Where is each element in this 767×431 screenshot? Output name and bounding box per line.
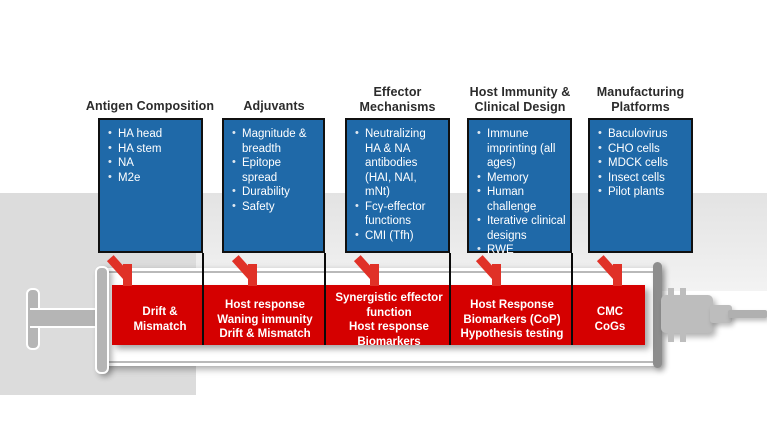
- band-cell-line: Host response: [329, 320, 449, 335]
- list-item: Durability: [232, 185, 319, 200]
- divider-line-2: [324, 253, 326, 345]
- list-item: NA: [108, 156, 197, 171]
- band-cell-antigen-composition: Drift & Mismatch: [118, 305, 202, 334]
- syringe-hub-rib-icon: [680, 288, 686, 298]
- syringe-hub-body-icon: [661, 295, 713, 333]
- connector-arrow-manufacturing-platforms: [613, 256, 643, 286]
- band-cell-line: Host Response: [452, 298, 572, 313]
- column-box-manufacturing-platforms[interactable]: Baculovirus CHO cells MDCK cells Insect …: [588, 118, 693, 253]
- band-cell-host-immunity-clinical-design: Host Response Biomarkers (CoP) Hypothesi…: [452, 298, 572, 342]
- band-cell-line: Waning immunity: [206, 313, 324, 328]
- list-item: Memory: [477, 171, 566, 186]
- list-item: Baculovirus: [598, 127, 687, 142]
- list-item: Pilot plants: [598, 185, 687, 200]
- syringe-plunger-flange-icon: [95, 266, 109, 374]
- column-list-adjuvants: Magnitude & breadth Epitope spread Durab…: [224, 120, 323, 214]
- column-heading-manufacturing-platforms: Manufacturing Platforms: [588, 85, 693, 115]
- syringe-plunger-rod-icon: [30, 308, 102, 328]
- list-item: M2e: [108, 171, 197, 186]
- list-item: Neutralizing HA & NA antibodies (HAI, NA…: [355, 127, 444, 200]
- divider-line-1: [202, 253, 204, 345]
- band-cell-manufacturing-platforms: CMC CoGs: [578, 305, 642, 334]
- column-heading-antigen-composition: Antigen Composition: [80, 99, 220, 114]
- list-item: HA head: [108, 127, 197, 142]
- syringe-hub-rib-icon: [668, 332, 674, 342]
- column-list-manufacturing-platforms: Baculovirus CHO cells MDCK cells Insect …: [590, 120, 691, 200]
- diagram-canvas: Antigen Composition HA head HA stem NA M…: [0, 0, 767, 431]
- list-item: Human challenge: [477, 185, 566, 214]
- divider-line-3: [449, 253, 451, 345]
- band-cell-line: function: [329, 306, 449, 321]
- column-list-host-immunity-clinical-design: Immune imprinting (all ages) Memory Huma…: [469, 120, 570, 258]
- column-heading-host-immunity-clinical-design: Host Immunity & Clinical Design: [460, 85, 580, 115]
- list-item: Iterative clinical designs: [477, 214, 566, 243]
- column-box-effector-mechanisms[interactable]: Neutralizing HA & NA antibodies (HAI, NA…: [345, 118, 450, 253]
- band-cell-line: CMC: [578, 305, 642, 320]
- column-heading-adjuvants: Adjuvants: [222, 99, 326, 114]
- band-cell-line: Drift & Mismatch: [206, 327, 324, 342]
- list-item: Magnitude & breadth: [232, 127, 319, 156]
- list-item: Immune imprinting (all ages): [477, 127, 566, 171]
- connector-arrow-effector-mechanisms: [370, 256, 400, 286]
- connector-arrow-adjuvants: [248, 256, 278, 286]
- list-item: Epitope spread: [232, 156, 319, 185]
- column-list-effector-mechanisms: Neutralizing HA & NA antibodies (HAI, NA…: [347, 120, 448, 243]
- column-heading-effector-mechanisms: Effector Mechanisms: [345, 85, 450, 115]
- band-cell-effector-mechanisms: Synergistic effector function Host respo…: [329, 291, 449, 349]
- list-item: CMI (Tfh): [355, 229, 444, 244]
- band-cell-line: Hypothesis testing: [452, 327, 572, 342]
- list-item: CHO cells: [598, 142, 687, 157]
- band-cell-line: Biomarkers: [329, 335, 449, 350]
- connector-arrow-antigen-composition: [123, 256, 153, 286]
- list-item: Fcγ-effector functions: [355, 200, 444, 229]
- band-cell-line: CoGs: [578, 320, 642, 335]
- column-box-antigen-composition[interactable]: HA head HA stem NA M2e: [98, 118, 203, 253]
- column-box-host-immunity-clinical-design[interactable]: Immune imprinting (all ages) Memory Huma…: [467, 118, 572, 253]
- band-cell-adjuvants: Host response Waning immunity Drift & Mi…: [206, 298, 324, 342]
- list-item: Safety: [232, 200, 319, 215]
- band-cell-line: Biomarkers (CoP): [452, 313, 572, 328]
- connector-arrow-host-immunity-clinical-design: [492, 256, 522, 286]
- column-box-adjuvants[interactable]: Magnitude & breadth Epitope spread Durab…: [222, 118, 325, 253]
- list-item: HA stem: [108, 142, 197, 157]
- list-item: MDCK cells: [598, 156, 687, 171]
- syringe-hub-rib-icon: [680, 332, 686, 342]
- band-cell-line: Host response: [206, 298, 324, 313]
- syringe-needle-icon: [728, 310, 767, 318]
- band-cell-line: Mismatch: [118, 320, 202, 335]
- band-cell-line: Synergistic effector: [329, 291, 449, 306]
- band-cell-line: Drift &: [118, 305, 202, 320]
- column-list-antigen-composition: HA head HA stem NA M2e: [100, 120, 201, 185]
- syringe-hub-rib-icon: [668, 288, 674, 298]
- list-item: Insect cells: [598, 171, 687, 186]
